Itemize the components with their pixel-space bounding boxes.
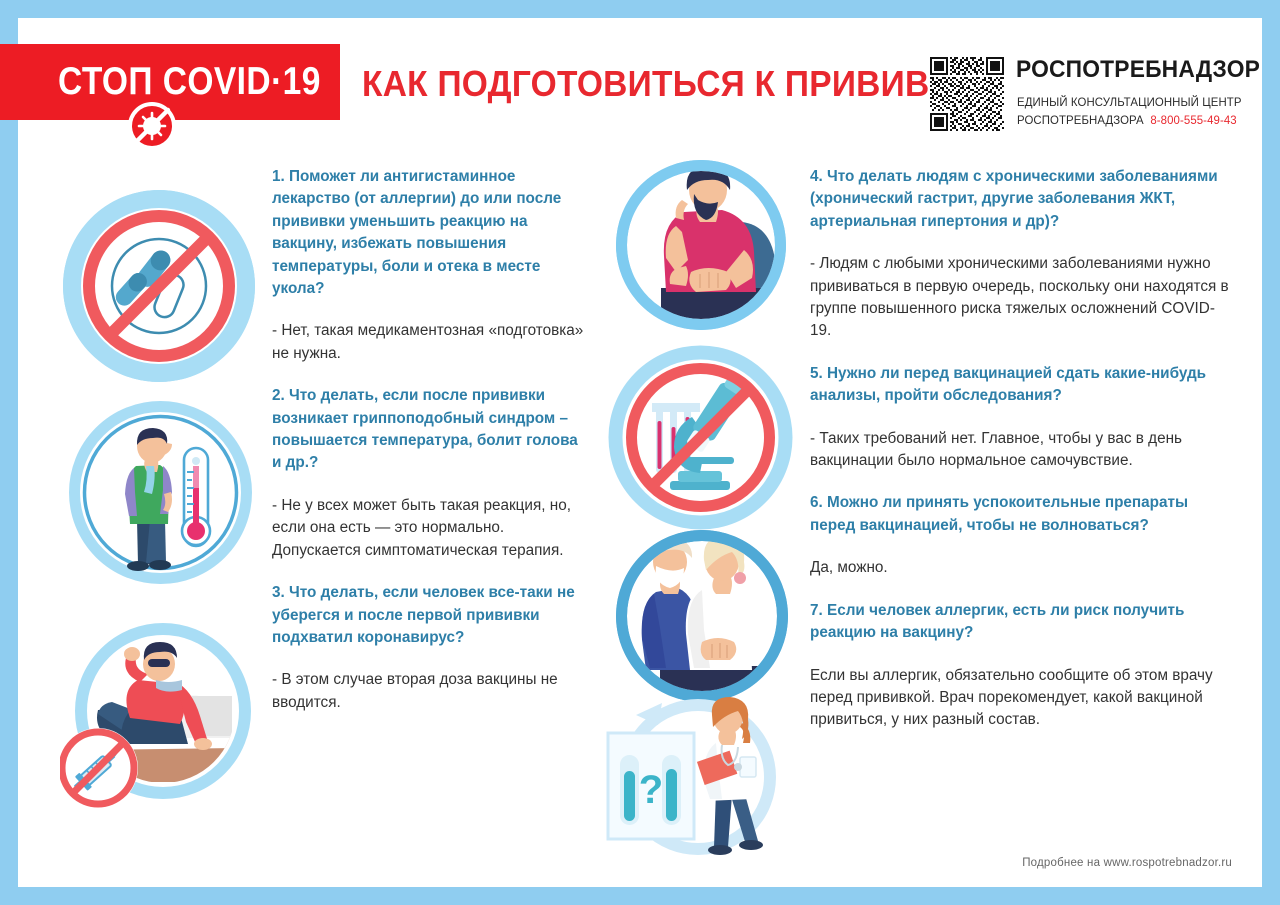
- answer-6: Да, можно.: [810, 557, 1234, 579]
- question-6: 6. Можно ли принять успокоительные препа…: [810, 492, 1234, 537]
- qr-code-icon[interactable]: [930, 57, 1004, 131]
- answer-1: - Нет, такая медикаментозная «подготовка…: [272, 320, 584, 365]
- question-3: 3. Что делать, если человек все-таки не …: [272, 582, 584, 649]
- virus-crossed-icon: [126, 100, 178, 152]
- hotline-phone[interactable]: 8-800-555-49-43: [1150, 113, 1236, 127]
- illustration-no-lab-tests: [608, 345, 793, 530]
- illustration-man-stomach: [616, 160, 786, 330]
- stop-covid-banner: СТОП COVID·19: [0, 44, 340, 120]
- rospotrebnadzor-subtitle-line1: ЕДИНЫЙ КОНСУЛЬТАЦИОННЫЙ ЦЕНТР: [1017, 95, 1242, 109]
- question-2: 2. Что делать, если после прививки возни…: [272, 385, 584, 475]
- illustration-couple: [616, 530, 788, 702]
- answer-2: - Не у всех может быть такая реакция, но…: [272, 495, 584, 562]
- question-7: 7. Если человек аллергик, есть ли риск п…: [810, 600, 1234, 645]
- illustration-man-thermometer: [68, 400, 253, 585]
- rospotrebnadzor-subtitle-line2-text: РОСПОТРЕБНАДЗОРА: [1017, 113, 1144, 127]
- footer-note: Подробнее на www.rospotrebnadzor.ru: [1022, 857, 1232, 869]
- no-microscope-lab-tests-icon: [608, 345, 793, 530]
- question-1: 1. Поможет ли антигистаминное лекарство …: [272, 166, 584, 300]
- man-holding-stomach-icon: [616, 160, 786, 330]
- left-column-text: 1. Поможет ли антигистаминное лекарство …: [272, 166, 584, 714]
- answer-3: - В этом случае вторая доза вакцины не в…: [272, 669, 584, 714]
- no-pills-icon: [63, 190, 255, 382]
- rospotrebnadzor-name: РОСПОТРЕБНАДЗОР: [1016, 56, 1260, 84]
- rospotrebnadzor-subtitle-line2: РОСПОТРЕБНАДЗОРА8-800-555-49-43: [1017, 113, 1237, 127]
- answer-7: Если вы аллергик, обязательно сообщите о…: [810, 665, 1234, 732]
- answer-5: - Таких требований нет. Главное, чтобы у…: [810, 428, 1234, 473]
- question-5: 5. Нужно ли перед вакцинацией сдать каки…: [810, 363, 1234, 408]
- illustration-no-pills: [63, 190, 255, 382]
- man-with-thermometer-icon: [68, 400, 253, 585]
- page-title: КАК ПОДГОТОВИТЬСЯ К ПРИВИВКЕ: [362, 63, 973, 105]
- man-in-bed-no-syringe-icon: [60, 618, 260, 818]
- answer-4: - Людям с любыми хроническими заболевани…: [810, 253, 1234, 343]
- poster-header: СТОП COVID·19: [0, 0, 1280, 145]
- stop-covid-label: СТОП COVID·19: [58, 60, 321, 104]
- rospotrebnadzor-logo-block: РОСПОТРЕБНАДЗОР ЕДИНЫЙ КОНСУЛЬТАЦИОННЫЙ …: [930, 57, 1230, 133]
- right-column-text: 4. Что делать людям с хроническими забол…: [810, 166, 1234, 732]
- doctor-with-test-tubes-icon: ?: [600, 695, 780, 865]
- question-4: 4. Что делать людям с хроническими забол…: [810, 166, 1234, 233]
- couple-reassuring-icon: [616, 530, 788, 702]
- illustration-doctor-tubes: ?: [600, 695, 780, 865]
- poster-root: СТОП COVID·19: [0, 0, 1280, 905]
- illustration-man-in-bed: [60, 618, 260, 818]
- svg-text:?: ?: [639, 768, 663, 812]
